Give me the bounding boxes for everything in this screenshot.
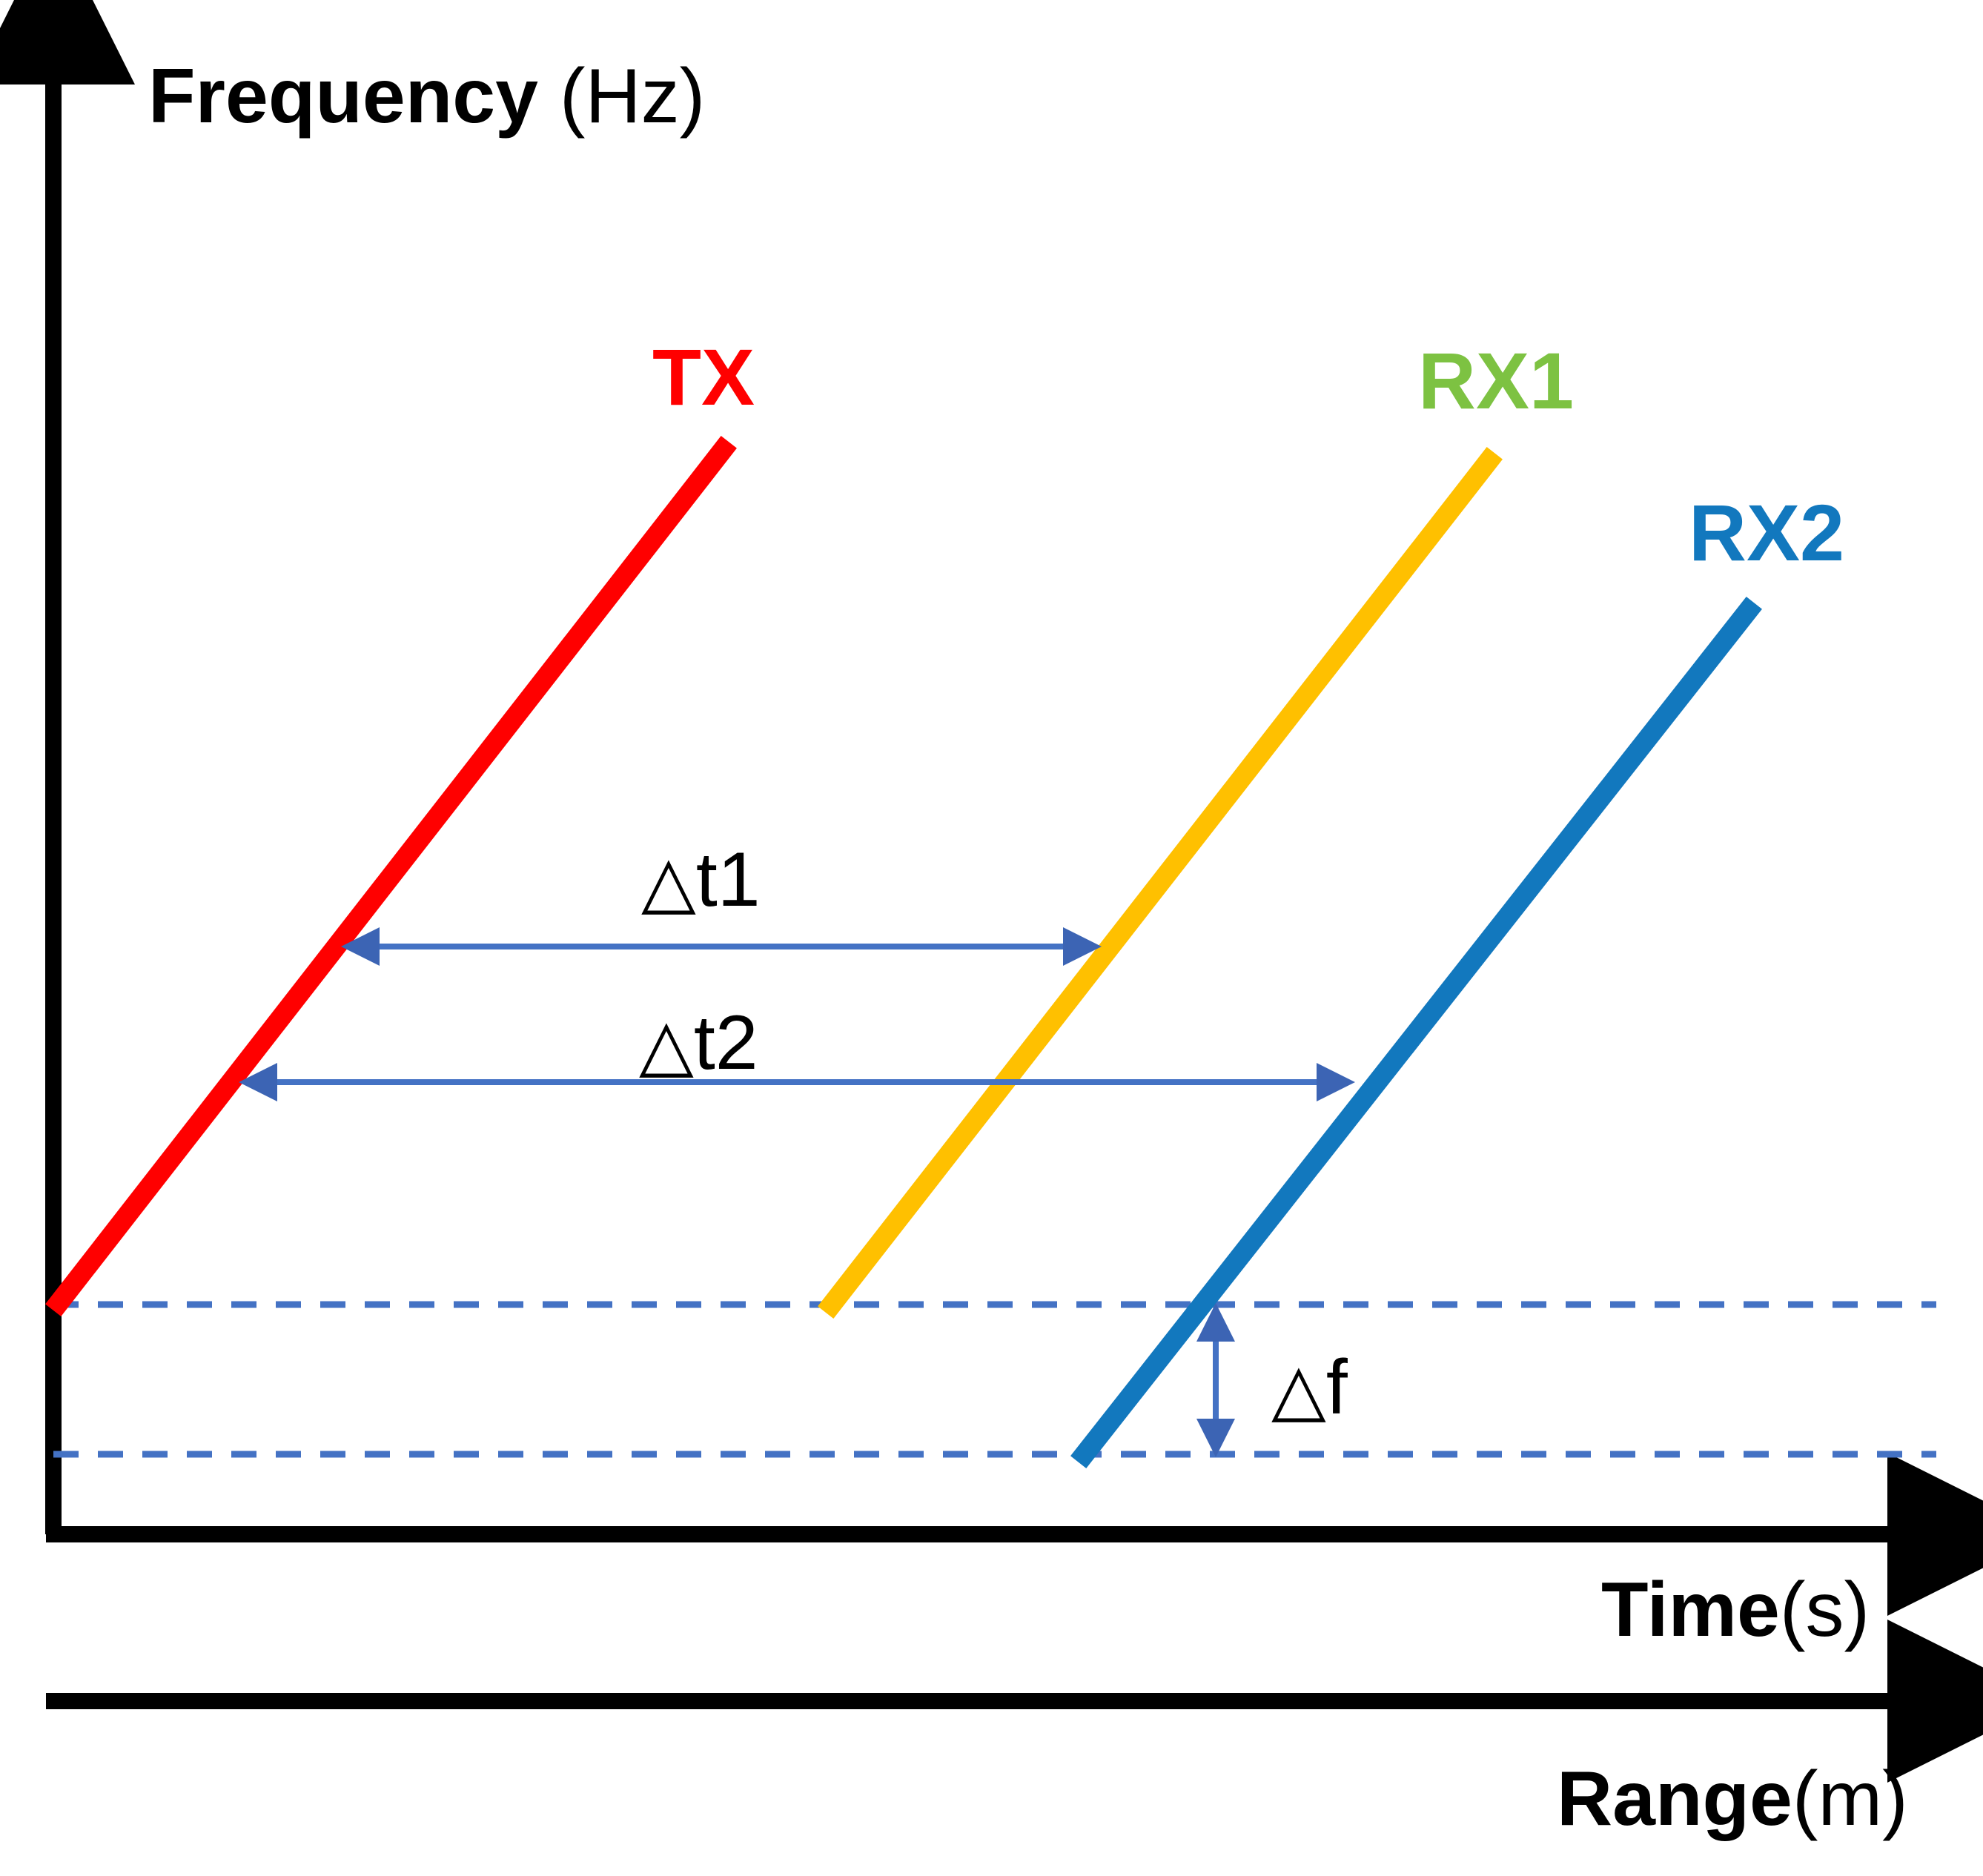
tx-chirp-line[interactable] [59, 450, 723, 1302]
triangle-icon: △ [1271, 1350, 1326, 1429]
triangle-icon: △ [641, 842, 696, 921]
annotation-delta-f-text: f [1326, 1345, 1348, 1431]
series-label-rx1: RX1 [1418, 341, 1574, 421]
range-axis-title-unit: (m) [1792, 1756, 1908, 1842]
x-axis-title: Time(s) [1601, 1571, 1870, 1648]
annotation-label-delta-t1: △t1 [641, 841, 761, 918]
y-axis-title-strong: Frequency [148, 53, 538, 139]
annotation-delta-t1-text: t1 [696, 837, 761, 923]
range-axis-title: Range(m) [1557, 1760, 1908, 1837]
rx1-chirp-line[interactable] [832, 461, 1489, 1305]
annotation-label-delta-t2: △t2 [639, 1004, 758, 1081]
series-label-rx2: RX2 [1689, 493, 1844, 573]
triangle-icon: △ [639, 1005, 694, 1084]
figure-canvas: Frequency (Hz) Time(s) Range(m) TX RX1 R… [0, 0, 1983, 1876]
x-axis-title-strong: Time [1601, 1567, 1780, 1653]
x-axis-title-unit: (s) [1780, 1567, 1870, 1653]
annotation-label-delta-f: △f [1271, 1349, 1348, 1426]
series-label-tx: TX [652, 337, 755, 417]
annotation-delta-t2-text: t2 [694, 1000, 758, 1086]
y-axis-title: Frequency (Hz) [148, 58, 705, 135]
rx2-chirp-line[interactable] [1085, 611, 1748, 1454]
y-axis-title-unit: (Hz) [538, 53, 705, 139]
measurement-arrows [245, 947, 1349, 1451]
reference-lines [53, 1305, 1936, 1454]
range-axis-title-strong: Range [1557, 1756, 1792, 1842]
